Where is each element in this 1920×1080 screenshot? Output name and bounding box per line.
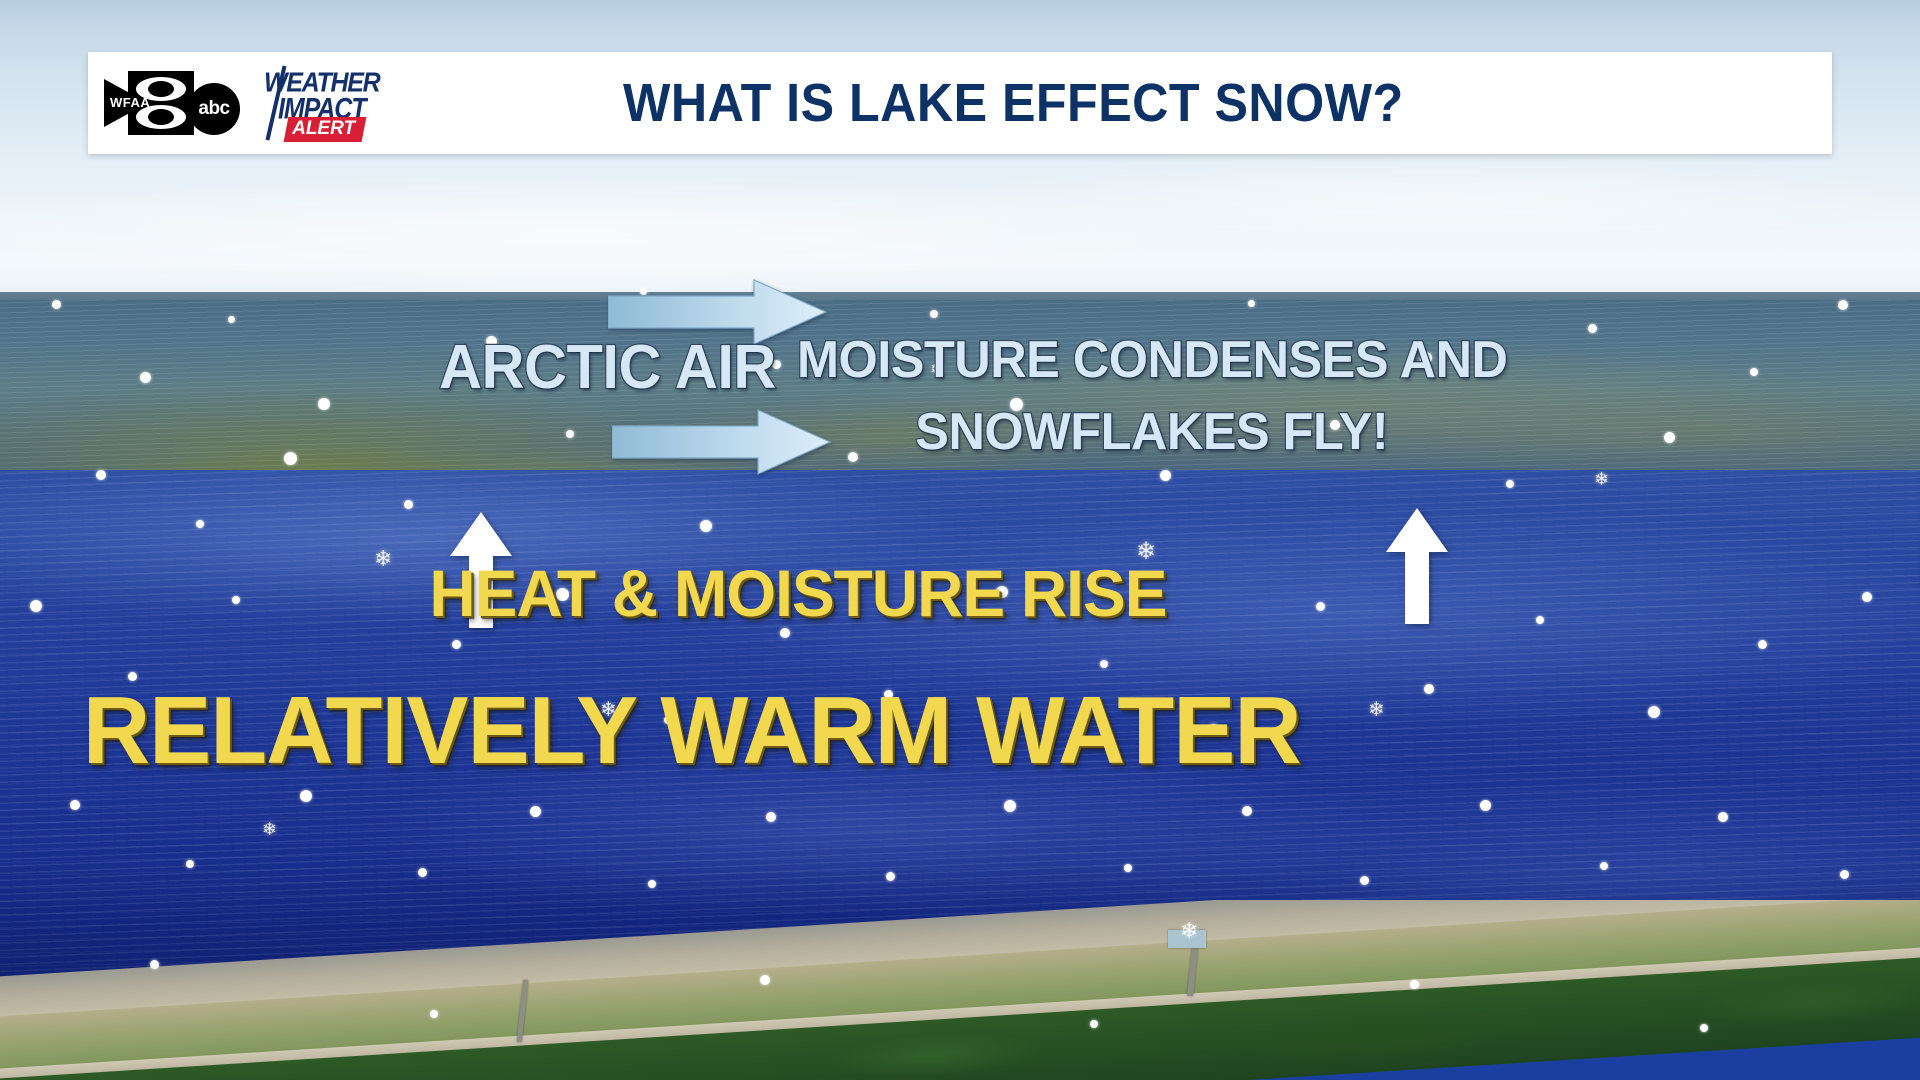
eight-lower-dot (148, 109, 174, 125)
weather-graphic: ❄ ❄ ❄ ❄ ❄ ❄ ❄ ❄ (0, 0, 1920, 1080)
label-arctic-air: ARCTIC AIR (439, 332, 776, 403)
pier-right-head (1168, 930, 1206, 948)
page-title: WHAT IS LAKE EFFECT SNOW? (440, 72, 1781, 134)
weather-impact-alert-logo: WEATHER IMPACT ALERT (258, 65, 390, 141)
label-heat-moisture-rise: HEAT & MOISTURE RISE (429, 555, 1166, 631)
near-shoreline (0, 900, 1920, 1080)
eight-upper-dot (148, 81, 174, 97)
heat-rise-arrow-right (1384, 508, 1450, 626)
logo-alert-text: ALERT (292, 118, 355, 140)
abc-wordmark: abc (198, 98, 229, 120)
arctic-air-arrow-lower (612, 408, 832, 476)
label-relatively-warm-water: RELATIVELY WARM WATER (83, 676, 1301, 786)
header-banner: WFAA abc WEATHER IMPACT ALERT WHAT IS LA… (88, 52, 1832, 154)
wfaa-channel8-logo: WFAA abc (102, 69, 250, 137)
abc-network-logo: abc (188, 83, 240, 135)
logo-alert-badge: ALERT (284, 117, 367, 142)
label-snowflakes-fly: SNOWFLAKES FLY! (915, 402, 1388, 462)
label-moisture-condenses: MOISTURE CONDENSES AND (797, 330, 1507, 390)
wfaa-call-letters: WFAA (110, 95, 150, 110)
